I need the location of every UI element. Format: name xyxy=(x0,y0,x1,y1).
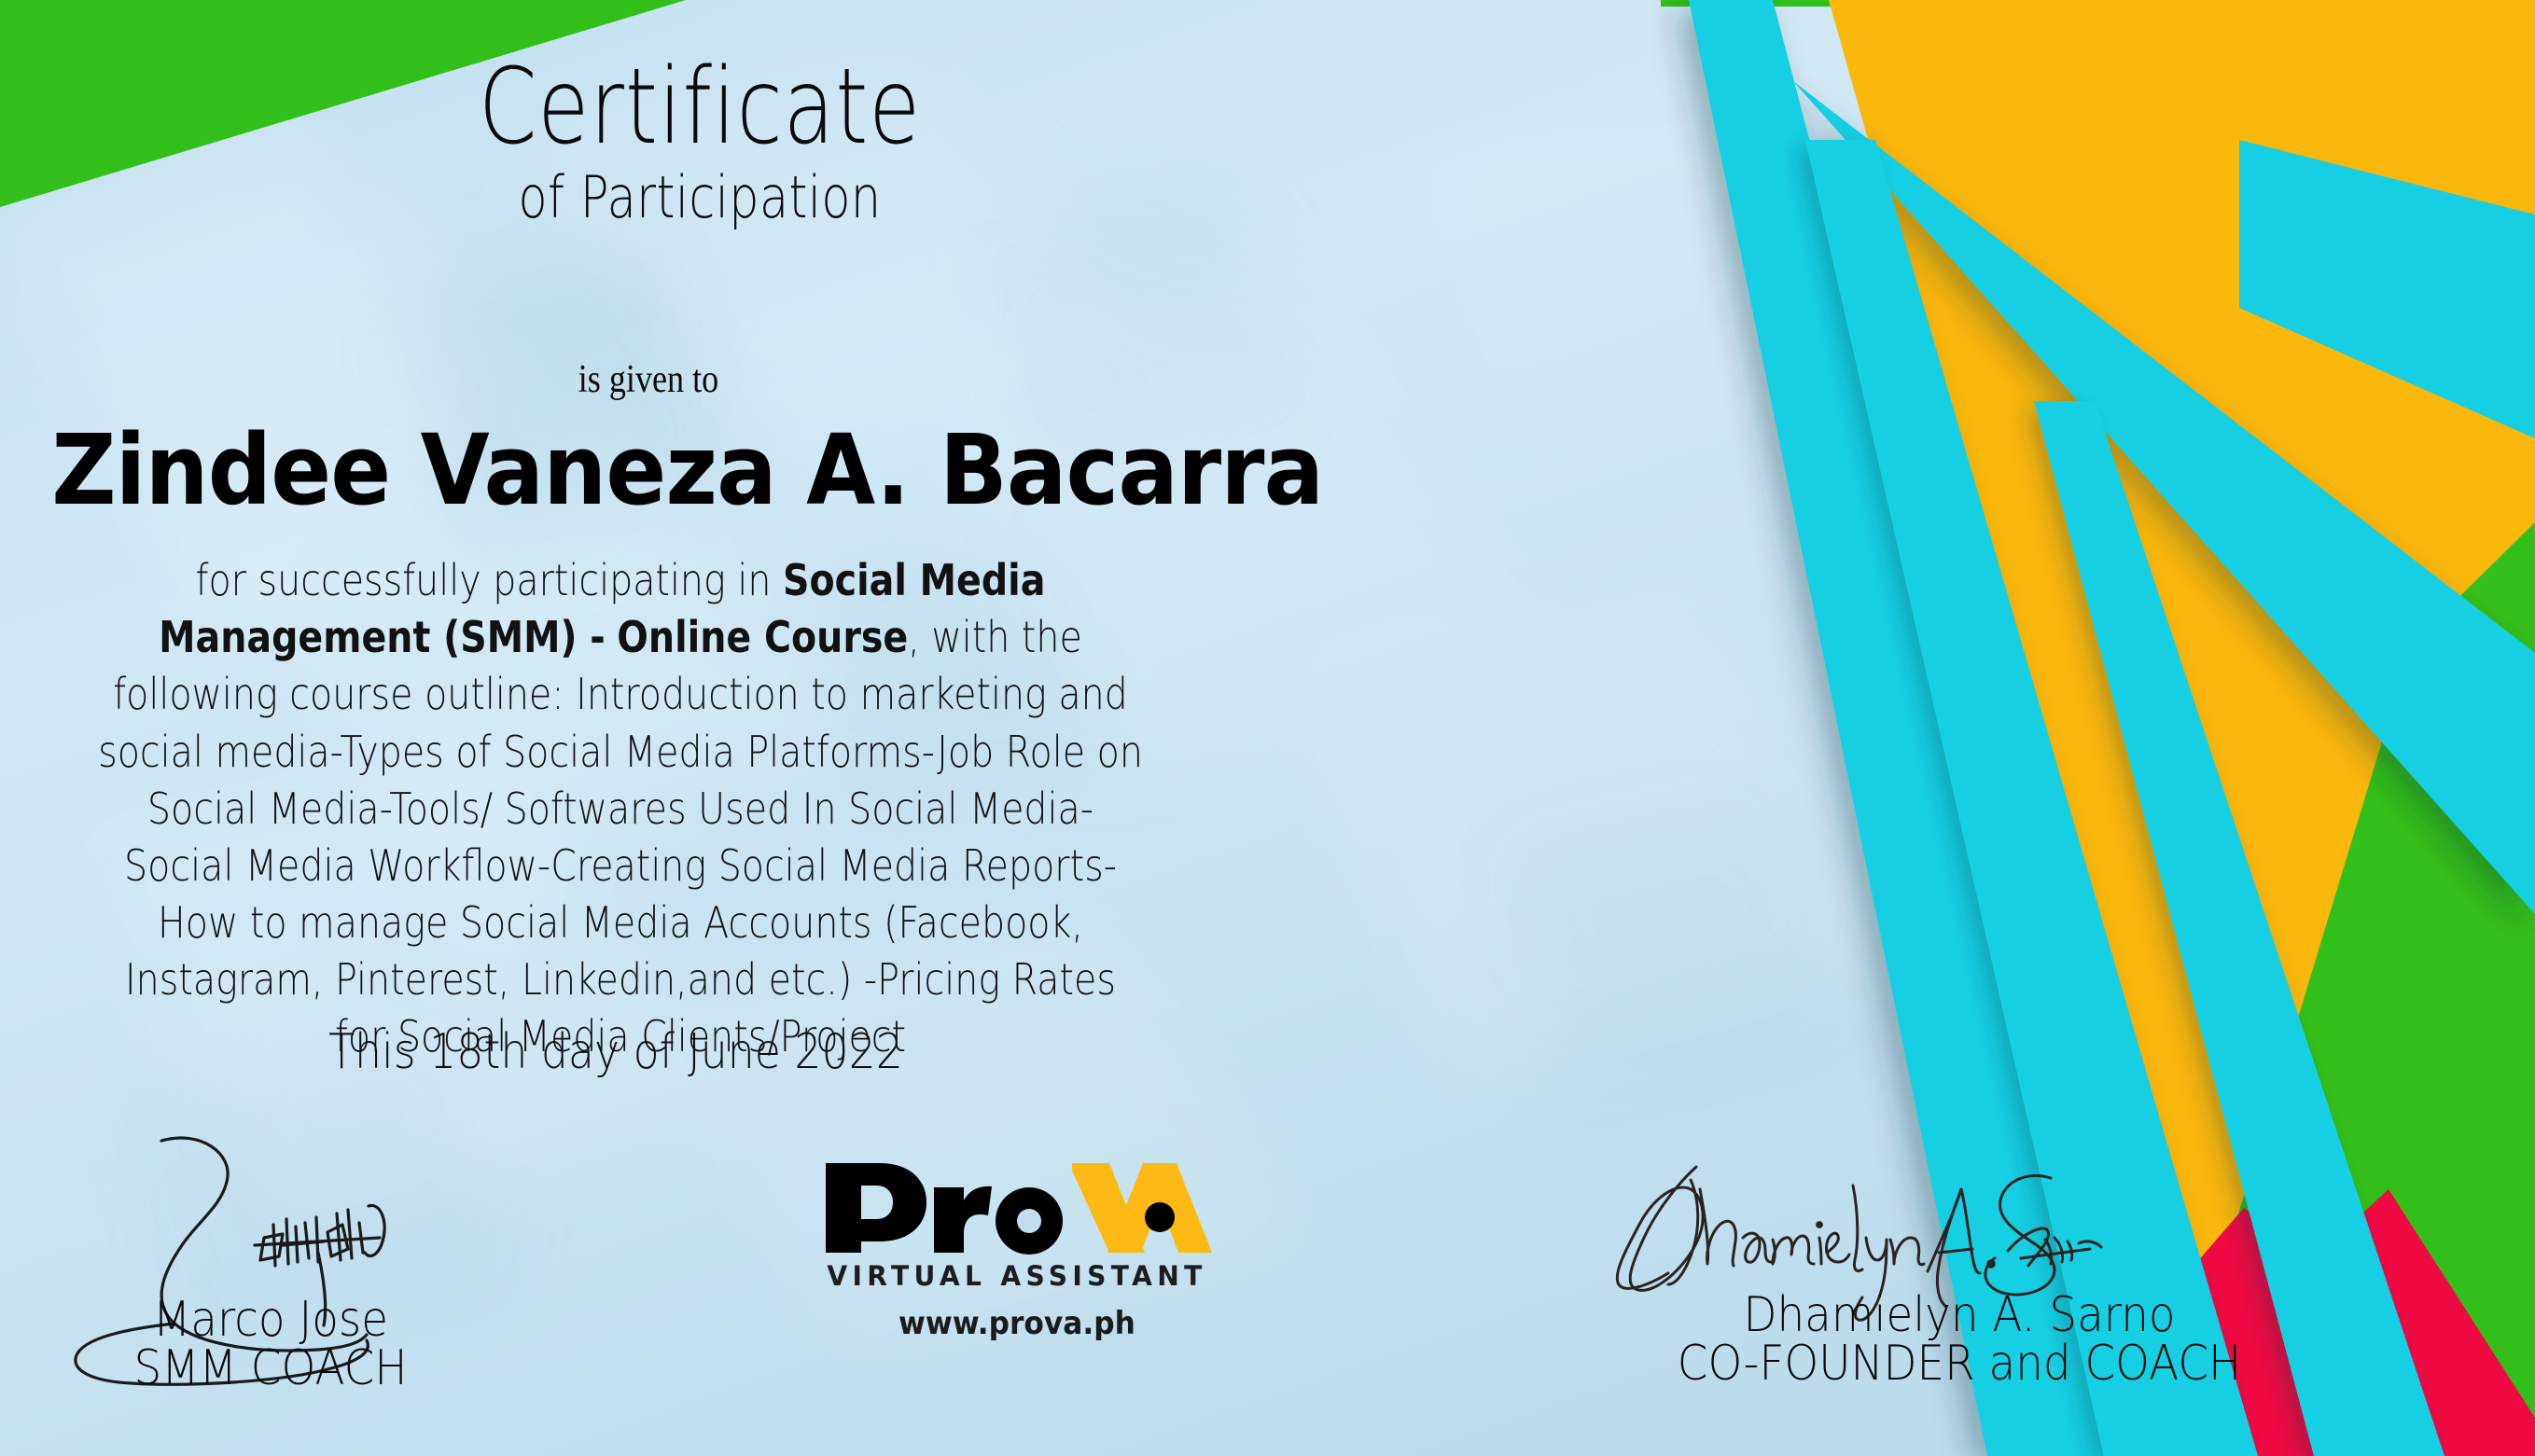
body-paragraph: for successfully participating in Social… xyxy=(95,552,1147,1066)
body-lead: for successfully participating in xyxy=(196,555,783,605)
page-title: Certificate xyxy=(140,54,1260,160)
prova-wordmark-icon xyxy=(822,1159,1212,1255)
title-block: Certificate of Participation xyxy=(0,54,1400,229)
date-line: This 18th day of June 2022 xyxy=(82,1024,1149,1080)
signature-role-left: SMM COACH xyxy=(77,1340,464,1396)
certificate-canvas: Certificate of Participation is given to… xyxy=(0,0,2535,1456)
prova-tagline: VIRTUAL ASSISTANT xyxy=(827,1260,1206,1292)
recipient-name: Zindee Vaneza A. Bacarra xyxy=(51,413,1236,527)
signature-name-left: Marco Jose xyxy=(77,1292,464,1348)
prova-url: www.prova.ph xyxy=(837,1305,1197,1342)
page-subtitle: of Participation xyxy=(126,166,1274,229)
signature-name-right: Dhamielyn A. Sarno xyxy=(1615,1287,2304,1343)
course-name-bold-2: Online Course xyxy=(617,612,908,662)
prova-logo: VIRTUAL ASSISTANT www.prova.ph xyxy=(821,1159,1213,1342)
given-to-label: is given to xyxy=(91,357,1205,402)
signature-role-right: CO-FOUNDER and COACH xyxy=(1615,1336,2304,1392)
body-rest: , with the following course outline: Int… xyxy=(98,612,1143,1061)
